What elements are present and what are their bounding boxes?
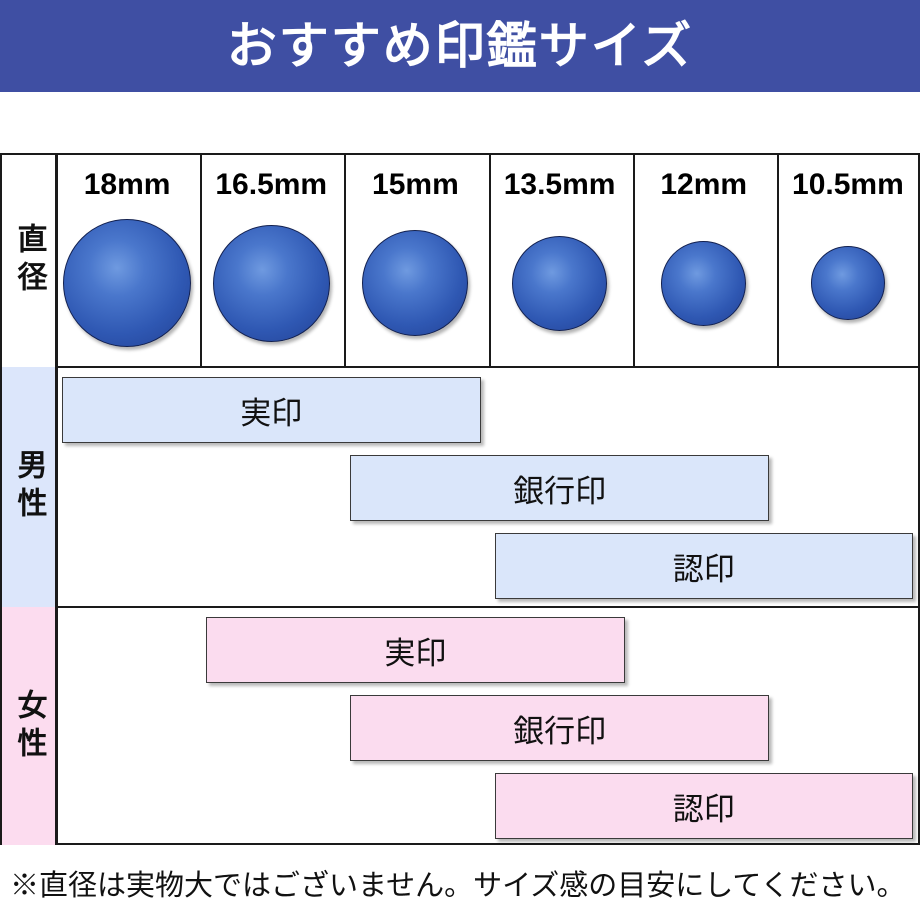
grid-row-divider: [2, 606, 920, 608]
footnote: ※直径は実物大ではございません。サイズ感の目安にしてください。: [0, 845, 920, 920]
title-band: おすすめ印鑑サイズ: [0, 0, 920, 92]
bar-label: 認印: [673, 784, 735, 829]
size-header-15mm: 15mm: [343, 163, 487, 207]
seal-circle-10.5mm: [811, 246, 885, 320]
bar-label: 認印: [673, 544, 735, 589]
female-bar-銀行印: 銀行印: [350, 695, 769, 761]
size-header-18mm: 18mm: [55, 163, 199, 207]
bar-label: 実印: [384, 628, 446, 673]
bar-label: 実印: [240, 388, 302, 433]
female-bar-認印: 認印: [495, 773, 914, 839]
row-label-text: 女性: [14, 689, 44, 765]
row-label-text: 直径: [14, 223, 44, 299]
row-label-male: 男性: [2, 367, 57, 607]
grid-row-divider: [2, 366, 920, 368]
size-header-10.5mm: 10.5mm: [776, 163, 920, 207]
bar-label: 銀行印: [513, 706, 606, 751]
bar-label: 銀行印: [513, 466, 606, 511]
female-bar-実印: 実印: [206, 617, 625, 683]
row-label-diameter: 直径: [2, 155, 57, 367]
male-bar-実印: 実印: [62, 377, 481, 443]
title-spacer-band: [0, 95, 920, 153]
seal-circle-13.5mm: [512, 236, 607, 331]
size-header-16.5mm: 16.5mm: [199, 163, 343, 207]
seal-circle-15mm: [362, 230, 468, 336]
seal-circle-18mm: [63, 219, 191, 347]
male-bar-銀行印: 銀行印: [350, 455, 769, 521]
page-title: おすすめ印鑑サイズ: [227, 21, 694, 71]
male-bar-認印: 認印: [495, 533, 914, 599]
size-header-13.5mm: 13.5mm: [488, 163, 632, 207]
row-label-female: 女性: [2, 607, 57, 847]
row-label-text: 男性: [14, 449, 44, 525]
hanko-size-infographic: おすすめ印鑑サイズ 直径男性女性 18mm16.5mm15mm13.5mm12m…: [0, 0, 920, 920]
seal-circle-12mm: [661, 241, 746, 326]
size-header-12mm: 12mm: [632, 163, 776, 207]
seal-circle-16.5mm: [213, 225, 330, 342]
